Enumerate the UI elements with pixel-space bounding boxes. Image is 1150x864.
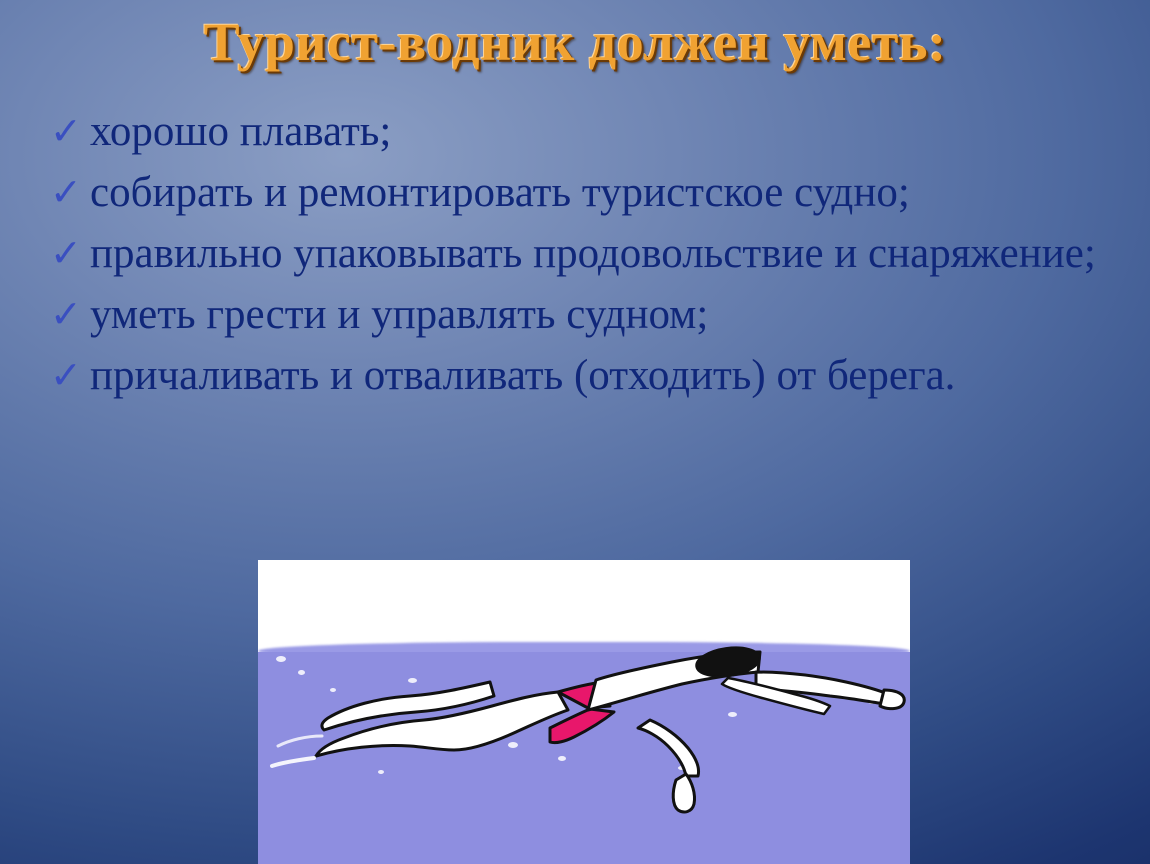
- bullet-list: ✓ хорошо плавать; ✓ собирать и ремонтиро…: [44, 104, 1114, 409]
- list-item-text: хорошо плавать;: [90, 104, 1114, 159]
- swimmer-photo: [258, 560, 910, 864]
- checkmark-icon: ✓: [50, 165, 90, 219]
- list-item: ✓ собирать и ремонтировать туристское су…: [44, 165, 1114, 220]
- checkmark-icon: ✓: [50, 226, 90, 280]
- checkmark-icon: ✓: [50, 287, 90, 341]
- list-item: ✓ причаливать и отваливать (отходить) от…: [44, 348, 1114, 403]
- list-item-text: уметь грести и управлять судном;: [90, 287, 1114, 342]
- checkmark-icon: ✓: [50, 104, 90, 158]
- list-item-text: правильно упаковывать продовольствие и с…: [90, 226, 1114, 281]
- page-title: Турист-водник должен уметь:: [0, 14, 1150, 71]
- list-item: ✓ правильно упаковывать продовольствие и…: [44, 226, 1114, 281]
- list-item: ✓ уметь грести и управлять судном;: [44, 287, 1114, 342]
- slide: Турист-водник должен уметь: ✓ хорошо пла…: [0, 0, 1150, 864]
- swimmer-figure: [258, 560, 910, 864]
- list-item: ✓ хорошо плавать;: [44, 104, 1114, 159]
- list-item-text: собирать и ремонтировать туристское судн…: [90, 165, 1114, 220]
- list-item-text: причаливать и отваливать (отходить) от б…: [90, 348, 1114, 403]
- checkmark-icon: ✓: [50, 348, 90, 402]
